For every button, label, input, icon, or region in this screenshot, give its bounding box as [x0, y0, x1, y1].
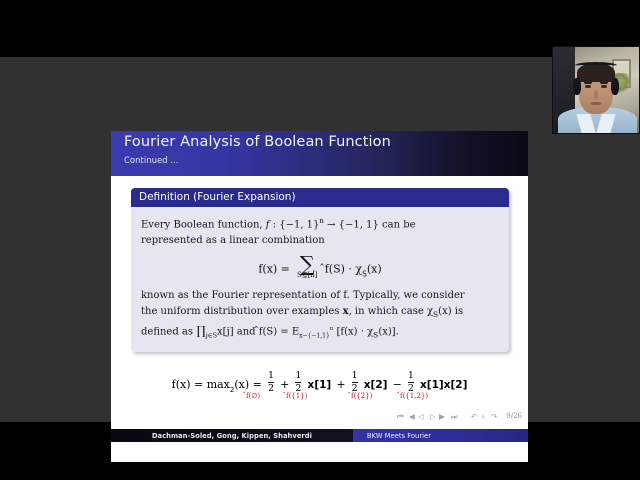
outro2-text-c: (x) is [438, 306, 463, 317]
coefficient-fraction-3: 1 2 [352, 371, 358, 394]
definition-outro-line-1: known as the Fourier representation of f… [141, 288, 499, 304]
outro2-text-b: , in which case χ [349, 306, 433, 317]
plus-operator-1: + [280, 378, 289, 391]
prev-frame-icon[interactable]: ◀ [409, 411, 415, 422]
next-slide-icon[interactable]: ▷ [430, 411, 436, 422]
prev-slide-icon[interactable]: ◁ [418, 411, 424, 422]
definition-intro-line-2: represented as a linear combination [141, 233, 499, 249]
definition-header: Definition (Fourier Expansion) [131, 188, 509, 207]
outro3-text-b: x[j] and [217, 327, 259, 338]
outro3-text-c: [f(x) · χ [333, 327, 373, 338]
annotation-fhat-empty: ̂f(∅) [246, 392, 260, 400]
slide-header: Fourier Analysis of Boolean Function Con… [111, 131, 528, 176]
minus-operator: − [393, 378, 402, 391]
equation-rhs-tail: (x) [367, 263, 382, 276]
page-number: 9/26 [506, 411, 522, 422]
fraction-numerator: 1 [352, 371, 358, 381]
headphones-headband-icon [575, 62, 616, 69]
annotation-fhat-2: ̂f({2}) [351, 392, 372, 400]
intro-text-b: : {−1, 1} [269, 219, 319, 230]
coefficient-fraction-2: 1 2 [295, 371, 301, 394]
slide-navigation-bar[interactable]: ⏮ ◀ ◁ ▷ ▶ ⏭ ↶ ⌕ ↷ 9/26 [397, 411, 522, 422]
webcam-eyebrow-right [600, 81, 608, 83]
headphone-earcup-left [573, 78, 582, 95]
first-slide-icon[interactable]: ⏮ [397, 411, 404, 422]
definition-block: Definition (Fourier Expansion) Every Boo… [131, 188, 509, 352]
webcam-eyebrow-left [584, 81, 592, 83]
intro-text-a: Every Boolean function, [141, 219, 266, 230]
webcam-eye-left [585, 85, 591, 88]
example-lhs: f(x) = max [172, 378, 230, 391]
product-operator: ∏ [196, 324, 206, 338]
outro3-text-d: (x)]. [378, 327, 399, 338]
slide-subtitle: Continued ... [124, 156, 178, 166]
headphone-earcup-right [611, 78, 620, 95]
fraction-numerator: 1 [268, 371, 274, 381]
fraction-numerator: 1 [295, 371, 301, 381]
find-icon[interactable]: ⌕ [481, 411, 485, 422]
presentation-slide: Fourier Analysis of Boolean Function Con… [111, 131, 528, 462]
fourier-expansion-equation: f(x) = ∑ S⊆[n] ̂f(S) · χS(x) [141, 257, 499, 279]
example-lhs-tail: (x) = [234, 378, 262, 391]
back-icon[interactable]: ↶ [471, 411, 477, 422]
definition-intro-line-1: Every Boolean function, f : {−1, 1}n → {… [141, 214, 499, 233]
variable-x2: x[2] [364, 379, 388, 391]
variable-x1: x[1] [308, 379, 332, 391]
slide-footer: Dachman-Soled, Gong, Kippen, Shahverdi B… [111, 429, 528, 442]
footer-talk-title: BKW Meets Fourier [353, 429, 528, 442]
definition-outro-line-2: the uniform distribution over examples x… [141, 304, 499, 323]
fraction-numerator: 1 [408, 371, 414, 381]
plus-operator-2: + [336, 378, 345, 391]
webcam-eye-right [601, 85, 607, 88]
webcam-mouth [591, 102, 601, 105]
annotation-fhat-12: ̂f({1,2}) [400, 392, 428, 400]
next-frame-icon[interactable]: ▶ [439, 411, 445, 422]
coefficient-annotations: ̂f(∅) ̂f({1}) ̂f({2}) ̂f({1,2}) [111, 392, 528, 404]
definition-outro-line-3: defined as ∏j∈Sx[j] and ̂f(S) = Ex∼{−1,1… [141, 322, 499, 344]
equation-rhs: ̂f(S) · χ [325, 263, 362, 276]
forward-icon[interactable]: ↷ [491, 411, 497, 422]
last-slide-icon[interactable]: ⏭ [451, 411, 458, 422]
footer-authors: Dachman-Soled, Gong, Kippen, Shahverdi [111, 429, 353, 442]
sigma-icon: ∑ [297, 257, 318, 272]
slide-title: Fourier Analysis of Boolean Function [124, 134, 391, 150]
video-stage: Fourier Analysis of Boolean Function Con… [0, 57, 640, 422]
speaker-webcam-thumbnail[interactable] [552, 46, 640, 134]
variable-x1x2: x[1]x[2] [420, 379, 467, 391]
expectation-subscript: x∼{−1,1} [299, 333, 330, 340]
definition-body: Every Boolean function, f : {−1, 1}n → {… [131, 207, 509, 352]
screen-root: Fourier Analysis of Boolean Function Con… [0, 0, 640, 480]
coefficient-fraction-4: 1 2 [408, 371, 414, 394]
slide-body: Definition (Fourier Expansion) Every Boo… [111, 176, 528, 442]
intro-text-c: → {−1, 1} can be [324, 219, 416, 230]
fhat-of-S: ̂f(S) = [259, 327, 292, 338]
outro3-text-a: defined as [141, 327, 196, 338]
equation-lhs: f(x) = [258, 263, 290, 276]
webcam-nose [594, 90, 598, 99]
summation-operator: ∑ S⊆[n] [297, 257, 318, 279]
coefficient-fraction-1: 1 2 [268, 371, 274, 394]
summation-limit: S⊆[n] [297, 271, 318, 279]
outro2-text-a: the uniform distribution over examples [141, 306, 343, 317]
annotation-fhat-1: ̂f({1}) [286, 392, 307, 400]
product-limit: j∈S [206, 332, 217, 340]
